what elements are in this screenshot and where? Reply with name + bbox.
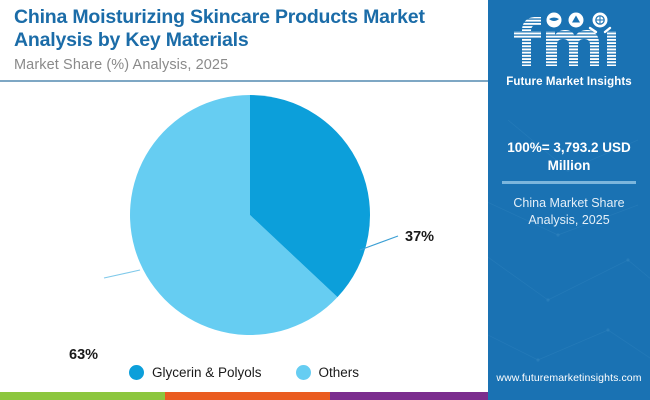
brand-logo: Future Market Insights [488, 12, 650, 88]
total-value-label: 100%= 3,793.2 USD Million [497, 139, 641, 175]
pie-label-glycerin-polyols: 37% [405, 229, 434, 245]
leader-line-63 [104, 270, 140, 278]
fmi-logo-icon [508, 12, 630, 74]
legend-label: Glycerin & Polyols [152, 365, 262, 380]
pie-chart-plot-area: 37% 63% [0, 82, 488, 352]
legend-label: Others [319, 365, 360, 380]
strip-segment-green [0, 392, 165, 400]
legend-item-glycerin-polyols[interactable]: Glycerin & Polyols [129, 365, 262, 380]
chart-header: China Moisturizing Skincare Products Mar… [0, 0, 488, 82]
strip-segment-purple [330, 392, 488, 400]
legend-item-others[interactable]: Others [296, 365, 360, 380]
chart-legend: Glycerin & Polyols Others [0, 358, 488, 386]
legend-swatch-icon [296, 365, 311, 380]
brand-url[interactable]: www.futuremarketinsights.com [488, 372, 650, 384]
brand-tagline: Future Market Insights [488, 76, 650, 88]
chart-canvas: China Moisturizing Skincare Products Mar… [0, 0, 650, 400]
bottom-color-strip [0, 392, 488, 400]
strip-segment-orange [165, 392, 330, 400]
panel-caption: China Market Share Analysis, 2025 [497, 195, 641, 229]
chart-subtitle: Market Share (%) Analysis, 2025 [14, 57, 228, 73]
legend-swatch-icon [129, 365, 144, 380]
panel-divider [502, 181, 636, 184]
brand-panel: Future Market Insights 100%= 3,793.2 USD… [488, 0, 650, 400]
pie-chart-svg [0, 82, 488, 352]
page-title: China Moisturizing Skincare Products Mar… [14, 6, 484, 52]
